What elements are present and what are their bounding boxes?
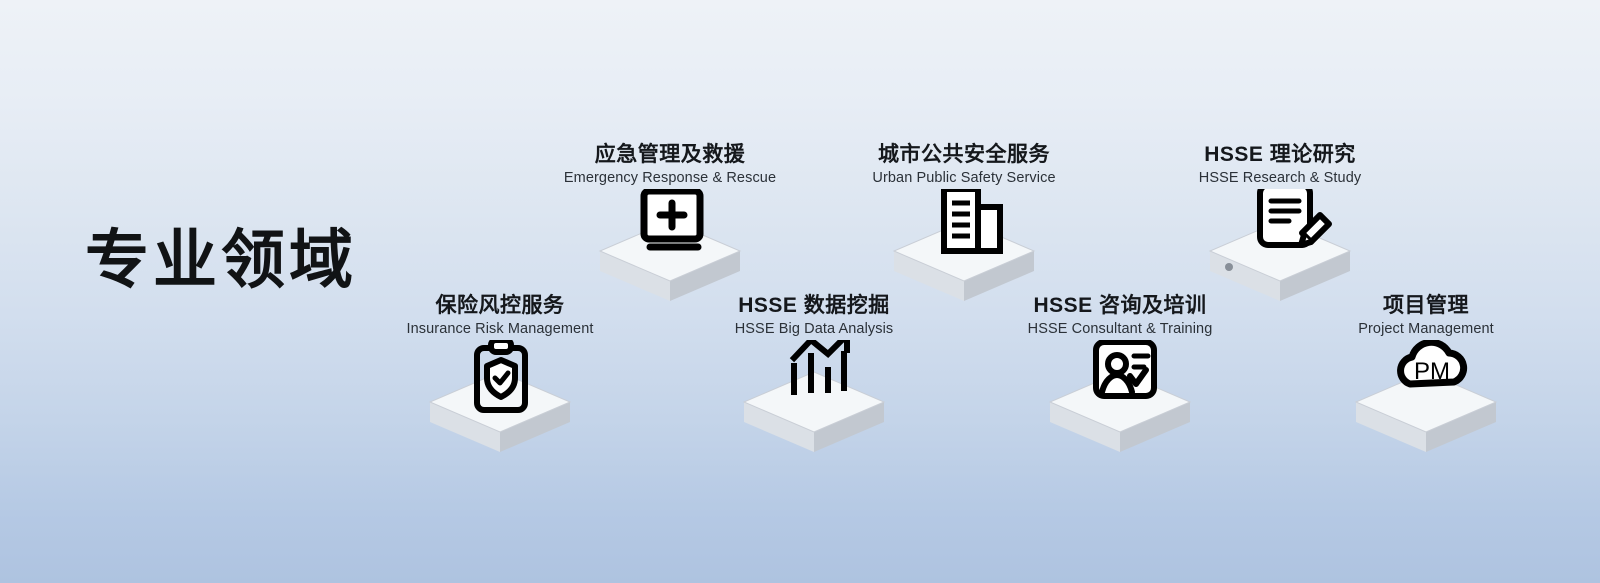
domain-title-cn: 项目管理 xyxy=(1296,294,1556,318)
domain-item-emergency-response-rescue[interactable]: 应急管理及救援 Emergency Response & Rescue xyxy=(540,143,800,309)
domain-title-cn: 城市公共安全服务 xyxy=(834,143,1094,167)
domain-icon-pedestal xyxy=(684,340,944,460)
domain-labels: 城市公共安全服务 Urban Public Safety Service xyxy=(834,143,1094,187)
domain-icon-pedestal: PM xyxy=(1296,340,1556,460)
domain-icon-pedestal xyxy=(540,189,800,309)
domain-item-hsse-consultant-training[interactable]: HSSE 咨询及培训 HSSE Consultant & Training xyxy=(990,294,1250,460)
domain-labels: HSSE 理论研究 HSSE Research & Study xyxy=(1150,143,1410,187)
domain-item-project-management[interactable]: 项目管理 Project Management PM xyxy=(1296,294,1556,460)
domain-item-insurance-risk-management[interactable]: 保险风控服务 Insurance Risk Management xyxy=(370,294,630,460)
domain-title-en: HSSE Big Data Analysis xyxy=(684,321,944,338)
domain-item-urban-public-safety-service[interactable]: 城市公共安全服务 Urban Public Safety Service xyxy=(834,143,1094,309)
domain-icon-pedestal xyxy=(990,340,1250,460)
domain-icon-pedestal xyxy=(1150,189,1410,309)
domain-labels: 应急管理及救援 Emergency Response & Rescue xyxy=(540,143,800,187)
clipboard-shield-check-icon xyxy=(370,340,630,460)
domain-title-en: Insurance Risk Management xyxy=(370,321,630,338)
domain-icon-pedestal xyxy=(834,189,1094,309)
domain-title-en: HSSE Consultant & Training xyxy=(990,321,1250,338)
domain-labels: 项目管理 Project Management xyxy=(1296,294,1556,338)
domain-title-en: HSSE Research & Study xyxy=(1150,170,1410,187)
document-pencil-icon xyxy=(1150,189,1410,309)
cloud-pm-icon: PM xyxy=(1296,340,1556,460)
domain-title-cn: HSSE 理论研究 xyxy=(1150,143,1410,167)
domain-item-hsse-research-study[interactable]: HSSE 理论研究 HSSE Research & Study xyxy=(1150,143,1410,309)
page-title: 专业领域 xyxy=(85,228,357,292)
professional-domains-banner: 专业领域 保险风控服务 Insurance Risk Management xyxy=(0,0,1600,583)
person-id-card-icon xyxy=(990,340,1250,460)
domain-title-en: Urban Public Safety Service xyxy=(834,170,1094,187)
domain-title-en: Emergency Response & Rescue xyxy=(540,170,800,187)
first-aid-cross-icon xyxy=(540,189,800,309)
domain-title-en: Project Management xyxy=(1296,321,1556,338)
city-buildings-icon xyxy=(834,189,1094,309)
domain-item-hsse-big-data-analysis[interactable]: HSSE 数据挖掘 HSSE Big Data Analysis xyxy=(684,294,944,460)
cloud-icon-text: PM xyxy=(1414,358,1450,385)
bar-chart-trend-up-icon xyxy=(684,340,944,460)
domain-icon-pedestal xyxy=(370,340,630,460)
domain-title-cn: 应急管理及救援 xyxy=(540,143,800,167)
